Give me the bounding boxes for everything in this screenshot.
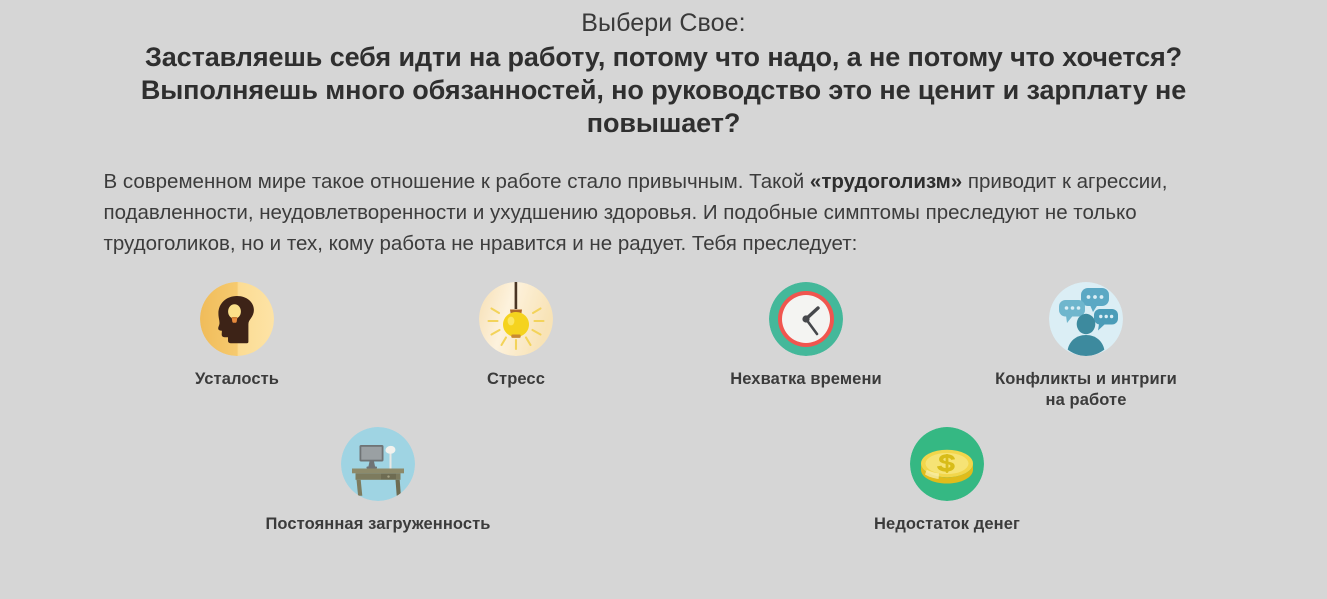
symptom-item-lack-of-time: Нехватка времени (722, 282, 890, 390)
symptom-label: Стресс (436, 369, 596, 390)
symptom-item-conflicts: Конфликты и интриги на работе (989, 282, 1183, 412)
speech-bubbles-person-icon (1049, 282, 1123, 356)
page-title-line-2: Выполняешь много обязанностей, но руково… (84, 74, 1244, 140)
intro-paragraph: В современном мире такое отношение к раб… (104, 166, 1224, 259)
page-eyebrow: Выбери Свое: (0, 8, 1327, 39)
head-lightbulb-icon (200, 282, 274, 356)
dollar-coin-icon (910, 427, 984, 501)
symptom-label: Усталость (157, 369, 317, 390)
symptom-item-stress: Стресс (436, 282, 596, 390)
hanging-lightbulb-icon (479, 282, 553, 356)
clock-icon (769, 282, 843, 356)
desk-computer-icon (341, 427, 415, 501)
intro-text-part-1: В современном мире такое отношение к раб… (104, 170, 810, 193)
page-title-line-1: Заставляешь себя идти на работу, потому … (99, 41, 1229, 74)
intro-emphasis: «трудоголизм» (810, 170, 962, 193)
symptom-label: Нехватка времени (722, 369, 890, 390)
symptom-icon-grid: Усталость (0, 282, 1327, 552)
symptom-label: Постоянная загруженность (258, 514, 498, 535)
symptom-item-lack-of-money: Недостаток денег (838, 427, 1056, 535)
symptom-label: Недостаток денег (838, 514, 1056, 535)
header-block: Выбери Свое: Заставляешь себя идти на ра… (0, 0, 1327, 140)
page-root: Выбери Свое: Заставляешь себя идти на ра… (0, 0, 1327, 599)
symptom-label: Конфликты и интриги на работе (989, 369, 1183, 412)
symptom-item-workload: Постоянная загруженность (258, 427, 498, 535)
symptom-item-fatigue: Усталость (157, 282, 317, 390)
